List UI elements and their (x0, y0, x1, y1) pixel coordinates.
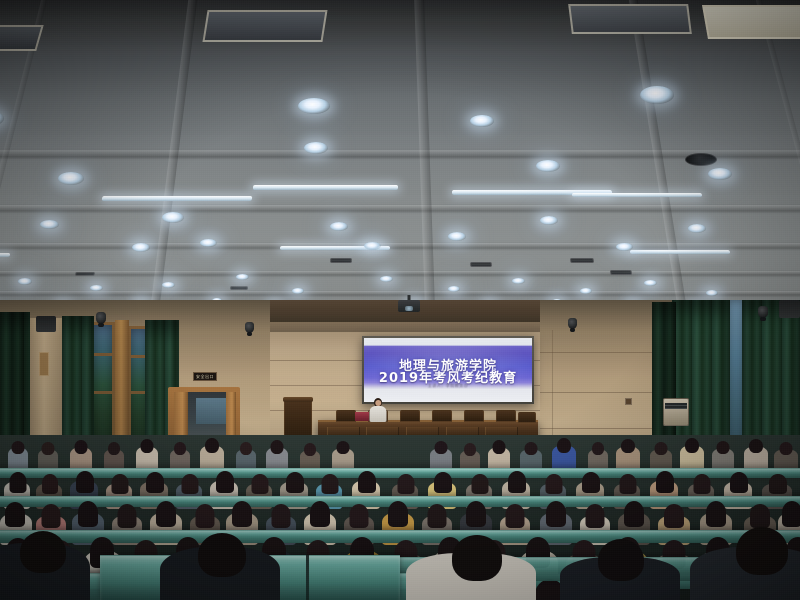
audience-hair (358, 471, 376, 493)
window-mullion (94, 353, 112, 356)
audience-hair (78, 501, 98, 527)
audience-hair (706, 501, 726, 527)
audience-head (108, 442, 120, 455)
audience-head (749, 439, 763, 453)
stage-chair[interactable] (464, 410, 484, 422)
air-conditioner-unit (663, 398, 689, 426)
ceiling-downlight (640, 86, 674, 104)
ceiling-vent-round (685, 153, 717, 166)
audience-hair (434, 472, 452, 493)
ceiling-vent (230, 286, 248, 290)
audience-head (464, 443, 476, 456)
audience-hair (252, 474, 269, 494)
ceiling-downlight (536, 160, 560, 172)
ceiling-downlight (200, 239, 217, 247)
exit-sign: 安全出口 (193, 372, 217, 381)
ceiling-downlight (448, 232, 466, 241)
stage-chair[interactable] (400, 410, 420, 422)
audience-head (780, 442, 793, 455)
ceiling-recess-panel (568, 4, 692, 34)
ceiling-beam (414, 0, 436, 330)
strip-light (630, 250, 731, 254)
ceiling-downlight (448, 286, 460, 292)
audience-hair (398, 474, 415, 494)
ceiling-projector (398, 300, 420, 312)
audience-hair (546, 474, 563, 494)
audience-hair (112, 474, 129, 494)
foreground-head (598, 539, 644, 581)
audience-head (174, 442, 186, 455)
lectern-top (283, 397, 312, 402)
stage-spotlight-right (758, 306, 768, 318)
audience-head (337, 441, 350, 454)
ceiling-downlight (580, 288, 592, 294)
ceiling-downlight (470, 115, 494, 127)
presenter-laptop[interactable] (355, 412, 369, 421)
audience-hair (118, 504, 137, 528)
audience-hair (586, 504, 605, 528)
audience-hair (782, 501, 800, 527)
audience-hair (508, 471, 526, 493)
audience-head (557, 438, 571, 453)
ceiling-downlight (90, 285, 103, 291)
ceiling-beam (0, 150, 800, 157)
ceiling-vent (75, 272, 96, 276)
ceiling-downlight (40, 220, 59, 229)
ceiling-downlight (706, 290, 718, 296)
stage-chair[interactable] (336, 410, 356, 422)
audience-head (592, 442, 604, 455)
window-left-a (91, 322, 115, 452)
projector-lens (405, 306, 414, 311)
ceiling-recess-panel (202, 10, 327, 42)
ceiling-beam (756, 0, 800, 330)
slide-footer: 主讲人：学院教务办 (364, 383, 532, 389)
ceiling-beam (0, 205, 800, 211)
audience-hair (42, 474, 58, 494)
ceiling-beam (0, 243, 800, 248)
ceiling-downlight (688, 224, 706, 233)
exit-sign-label: 安全出口 (196, 375, 214, 379)
audience-head (304, 443, 316, 456)
audience-hair (582, 472, 600, 493)
audience-hair (156, 501, 176, 527)
audience-hair (286, 472, 304, 493)
foreground-head (736, 527, 788, 575)
audience-hair (624, 501, 644, 527)
strip-light (572, 193, 703, 197)
audience-head (240, 442, 252, 455)
ceiling-vent (330, 258, 352, 263)
audience-hair (310, 501, 330, 527)
audience-row-far (0, 435, 800, 469)
stage-spotlight-left-2 (245, 322, 254, 333)
audience-area (0, 435, 800, 600)
skylight-panel (702, 5, 800, 39)
ceiling-downlight (540, 216, 558, 225)
ceiling-downlight (292, 288, 304, 294)
stage-chair[interactable] (496, 410, 516, 422)
ceiling-downlight (0, 110, 4, 127)
audience-head (42, 442, 55, 455)
audience-hair (769, 474, 787, 494)
audience-hair (428, 504, 447, 528)
audience-hair (232, 501, 252, 527)
audience-hair (216, 471, 234, 493)
audience-hair (664, 504, 684, 528)
audience-hair (388, 501, 408, 527)
ceiling-beam (629, 0, 690, 330)
audience-hair (76, 471, 94, 493)
wall-loudspeaker-left (36, 316, 56, 332)
ceiling-downlight (58, 172, 84, 185)
coffered-ceiling (0, 0, 800, 330)
ceiling-downlight (132, 243, 150, 252)
speaker-presenter (366, 398, 390, 424)
audience-hair (350, 504, 369, 528)
audience-hair (42, 504, 61, 528)
audience-hair (272, 504, 291, 528)
lecture-hall-photo: 安全出口 地理与旅游学院 2019年考风考纪教育 主讲人：学院教务办 (0, 0, 800, 600)
desk-divider (306, 555, 309, 600)
ceiling-downlight (162, 212, 184, 223)
audience-hair (322, 474, 339, 494)
window-mullion (94, 391, 112, 394)
audience-hair (5, 502, 25, 527)
ceiling-recess-panel (0, 25, 44, 51)
ceiling-beam (148, 0, 198, 330)
corridor-glimpse (196, 398, 230, 424)
ceiling-downlight (298, 98, 330, 114)
audience-hair (694, 474, 711, 494)
audience-head (493, 440, 506, 454)
window-pier (115, 320, 129, 454)
ceiling-downlight (236, 274, 249, 280)
strip-light (0, 253, 10, 257)
laptop-lid (355, 412, 369, 421)
audience-head (717, 441, 730, 454)
audience-hair (146, 472, 164, 493)
ceiling-downlight (380, 276, 393, 282)
audience-hair (466, 501, 486, 527)
ceiling-vent (470, 262, 492, 267)
ceiling-downlight (644, 280, 657, 286)
audience-hair (730, 472, 748, 493)
audience-head (621, 439, 635, 453)
audience-head (75, 440, 88, 454)
wall-loudspeaker-right (779, 300, 800, 318)
audience-head (685, 438, 699, 453)
projection-screen: 地理与旅游学院 2019年考风考纪教育 主讲人：学院教务办 (362, 336, 534, 404)
audience-hair (196, 504, 215, 528)
wall-notice-plate (39, 352, 49, 376)
stage-spotlight-right-2 (568, 318, 577, 329)
ceiling-downlight (162, 282, 175, 288)
audience-hair (620, 474, 637, 494)
audience-hair (472, 474, 489, 494)
stage-chair[interactable] (518, 412, 536, 423)
ceiling-downlight (304, 142, 328, 154)
audience-head (205, 438, 219, 453)
ceiling-vent (610, 270, 633, 275)
ceiling-downlight (18, 278, 32, 285)
ceiling-vent (570, 258, 595, 263)
stage-spotlight-left (96, 312, 106, 324)
audience-hair (750, 504, 770, 528)
audience-head (12, 441, 25, 454)
audience-hair (182, 474, 199, 494)
audience-hair (546, 501, 566, 527)
strip-light (102, 196, 253, 201)
audience-hair (656, 471, 674, 493)
projection-screen-surface: 地理与旅游学院 2019年考风考纪教育 主讲人：学院教务办 (364, 338, 532, 402)
strip-light (253, 185, 398, 190)
ceiling-downlight (512, 278, 525, 284)
ceiling-downlight (364, 242, 381, 250)
audience-hair (506, 504, 525, 528)
ac-grille (665, 403, 686, 410)
audience-head (435, 441, 448, 454)
audience-head (141, 439, 154, 453)
audience-head (525, 442, 538, 455)
foreground-head (20, 531, 66, 573)
ceiling-downlight (708, 168, 732, 180)
audience-head (655, 442, 668, 455)
stage-chair[interactable] (432, 410, 452, 422)
foreground-head (452, 535, 502, 581)
ceiling-downlight (330, 222, 348, 231)
speaker-body (370, 406, 387, 422)
audience-head (271, 440, 284, 454)
foreground-head (198, 533, 246, 577)
ceiling-downlight (616, 243, 633, 251)
wall-outlet[interactable] (625, 398, 632, 405)
audience-hair (10, 472, 27, 493)
